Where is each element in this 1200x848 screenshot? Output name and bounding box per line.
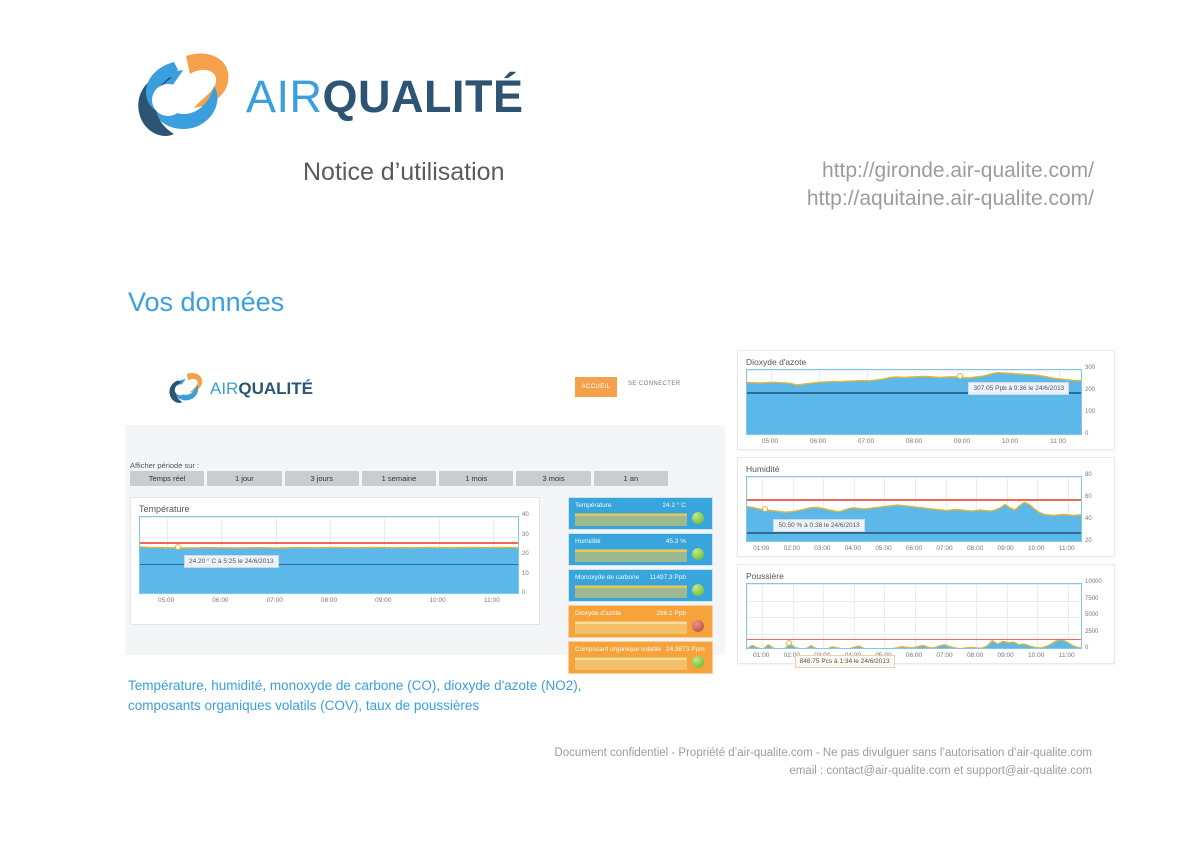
gauge-value: 24.2 ° C (662, 502, 706, 509)
x-tick-label: 06:00 (906, 545, 922, 552)
url-aquitaine[interactable]: http://aquitaine.air-qualite.com/ (807, 185, 1094, 213)
airqualite-logo-mark (128, 48, 240, 153)
chart-tooltip: 307.05 Ppb à 9:36 le 24/6/2013 (968, 382, 1069, 395)
chart-tooltip: 50.50 % à 0:38 le 24/6/2013 (773, 519, 864, 532)
period-tab-3[interactable]: 1 semaine (362, 471, 436, 486)
data-point-marker[interactable] (786, 640, 792, 646)
chart-plot-container[interactable]: 02500500075001000001:0002:0003:0004:0005… (738, 565, 1116, 665)
plot-area[interactable] (746, 476, 1082, 542)
app-logo-wordmark: AIRQUALITÉ (210, 380, 313, 397)
app-logo-qualite-text: QUALITÉ (238, 379, 313, 398)
x-tick-label: 06:00 (212, 597, 228, 604)
threshold-line (140, 542, 518, 544)
y-tick-label: 7500 (1085, 596, 1098, 602)
period-tab-0[interactable]: Temps réel (130, 471, 204, 486)
app-body: Afficher période sur : Temps réel1 jour3… (125, 425, 725, 655)
x-tick-label: 10:00 (429, 597, 445, 604)
gauge-status-red-icon (692, 620, 704, 632)
x-tick-label: 07:00 (936, 652, 952, 659)
x-tick-label: 01:00 (753, 545, 769, 552)
caption-line-1: Température, humidité, monoxyde de carbo… (128, 676, 728, 696)
x-tick-label: 11:00 (1050, 438, 1066, 445)
x-tick-label: 05:00 (875, 545, 891, 552)
app-screenshot: AIRQUALITÉ ACCUEIL SE CONNECTER Afficher… (125, 355, 725, 655)
baseline-marker (747, 532, 1081, 534)
chart-card-1: Dioxyde d'azote010020030005:0006:0007:00… (737, 350, 1115, 450)
nav-se-connecter-link[interactable]: SE CONNECTER (628, 381, 680, 387)
y-tick-label: 30 (522, 532, 529, 538)
chart-plot-container[interactable]: 010020030005:0006:0007:0008:0009:0010:00… (738, 351, 1116, 451)
y-tick-label: 10 (522, 571, 529, 577)
brand-qualite-text: QUALITÉ (323, 71, 524, 122)
y-tick-label: 2500 (1085, 629, 1098, 635)
brand-air-text: AIR (246, 71, 323, 122)
gauge-1[interactable]: Humidité45.3 % (568, 533, 713, 566)
x-tick-label: 07:00 (267, 597, 283, 604)
x-tick-label: 07:00 (858, 438, 874, 445)
period-tab-6[interactable]: 1 an (594, 471, 668, 486)
x-tick-label: 08:00 (967, 652, 983, 659)
x-tick-label: 05:00 (158, 597, 174, 604)
period-tab-2[interactable]: 3 jours (285, 471, 359, 486)
plot-area[interactable] (746, 369, 1082, 435)
document-subtitle: Notice d’utilisation (303, 158, 505, 187)
gauge-0[interactable]: Température24.2 ° C (568, 497, 713, 530)
x-tick-label: 10:00 (1028, 652, 1044, 659)
y-tick-label: 20 (522, 551, 529, 557)
gauge-sparkline (575, 621, 687, 634)
y-tick-label: 40 (1085, 516, 1092, 522)
url-gironde[interactable]: http://gironde.air-qualite.com/ (807, 157, 1094, 185)
x-tick-label: 07:00 (936, 545, 952, 552)
document-header: AIRQUALITÉ Notice d’utilisation http://g… (0, 0, 1200, 250)
gauge-value: 11497.3 Ppb (650, 574, 706, 581)
y-tick-label: 0 (522, 590, 525, 596)
x-tick-label: 11:00 (484, 597, 500, 604)
y-tick-label: 5000 (1085, 612, 1098, 618)
chart-plot-container[interactable]: 2040608001:0002:0003:0004:0005:0006:0007… (738, 458, 1116, 558)
nav-accueil-button[interactable]: ACCUEIL (575, 377, 617, 397)
x-tick-label: 08:00 (967, 545, 983, 552)
threshold-line (747, 639, 1081, 641)
chart-card-3: Poussière02500500075001000001:0002:0003:… (737, 564, 1115, 664)
app-logo-mark (165, 371, 207, 409)
x-tick-label: 06:00 (810, 438, 826, 445)
x-tick-label: 10:00 (1028, 545, 1044, 552)
x-tick-label: 02:00 (784, 545, 800, 552)
brand-wordmark: AIRQUALITÉ (246, 74, 524, 119)
gauge-value: 45.3 % (666, 538, 706, 545)
temperature-chart-title: Température (139, 504, 190, 514)
app-logo[interactable]: AIRQUALITÉ (165, 371, 310, 409)
gauge-4[interactable]: Composant organique volatile24.3873 Ppm (568, 641, 713, 674)
airqualite-logo: AIRQUALITÉ (128, 48, 528, 153)
period-tab-5[interactable]: 3 mois (516, 471, 590, 486)
section-title: Vos données (128, 287, 284, 318)
gauge-name: Monoxyde de carbone (575, 574, 639, 581)
period-tab-4[interactable]: 1 mois (439, 471, 513, 486)
gauge-name: Dioxyde d'azote (575, 610, 621, 617)
y-tick-label: 200 (1085, 387, 1095, 393)
y-tick-label: 10000 (1085, 579, 1102, 585)
y-tick-label: 0 (1085, 645, 1088, 651)
gauge-name: Humidité (575, 538, 601, 545)
gauge-sparkline (575, 657, 687, 670)
x-tick-label: 08:00 (906, 438, 922, 445)
footer-confidential-text: Document confidentiel - Propriété d’air-… (554, 744, 1092, 762)
y-tick-label: 60 (1085, 494, 1092, 500)
gauge-3[interactable]: Dioxyde d'azote286.1 Ppb (568, 605, 713, 638)
x-tick-label: 09:00 (954, 438, 970, 445)
site-urls: http://gironde.air-qualite.com/ http://a… (807, 157, 1094, 212)
x-tick-label: 08:00 (321, 597, 337, 604)
x-tick-label: 04:00 (845, 545, 861, 552)
gauge-2[interactable]: Monoxyde de carbone11497.3 Ppb (568, 569, 713, 602)
document-footer: Document confidentiel - Propriété d’air-… (554, 744, 1092, 781)
caption-line-2: composants organiques volatils (COV), ta… (128, 696, 728, 716)
gauge-name: Composant organique volatile (575, 646, 661, 653)
period-selector-tabs[interactable]: Temps réel1 jour3 jours1 semaine1 mois3 … (130, 471, 668, 486)
temperature-chart-card: Température 01020304005:0006:0007:0008:0… (130, 497, 540, 625)
y-tick-label: 100 (1085, 409, 1095, 415)
y-tick-label: 20 (1085, 538, 1092, 544)
x-tick-label: 09:00 (375, 597, 391, 604)
x-tick-label: 09:00 (997, 545, 1013, 552)
gauge-status-green-icon (692, 512, 704, 524)
gauge-sparkline (575, 513, 687, 526)
period-tab-1[interactable]: 1 jour (207, 471, 281, 486)
app-topbar: AIRQUALITÉ ACCUEIL SE CONNECTER (125, 355, 725, 425)
chart-card-2: Humidité2040608001:0002:0003:0004:0005:0… (737, 457, 1115, 557)
x-tick-label: 11:00 (1059, 652, 1075, 659)
gauge-name: Température (575, 502, 612, 509)
data-point-marker[interactable] (175, 544, 181, 550)
x-tick-label: 10:00 (1002, 438, 1018, 445)
gauge-status-green-icon (692, 584, 704, 596)
x-tick-label: 05:00 (762, 438, 778, 445)
gauge-sparkline (575, 549, 687, 562)
plot-area[interactable] (746, 583, 1082, 649)
x-tick-label: 03:00 (814, 545, 830, 552)
y-tick-label: 40 (522, 512, 529, 518)
right-chart-column: Dioxyde d'azote010020030005:0006:0007:00… (737, 350, 1115, 671)
gauge-status-green-icon (692, 548, 704, 560)
screenshot-caption: Température, humidité, monoxyde de carbo… (128, 676, 728, 717)
footer-email-text: email : contact@air-qualite.com et suppo… (554, 762, 1092, 780)
period-selector-label: Afficher période sur : (130, 461, 199, 470)
x-tick-label: 06:00 (906, 652, 922, 659)
x-tick-label: 11:00 (1059, 545, 1075, 552)
y-tick-label: 80 (1085, 472, 1092, 478)
y-tick-label: 0 (1085, 431, 1088, 437)
chart-tooltip: 846.75 Pcs à 1:34 le 24/6/2013 (795, 655, 895, 668)
series-area (747, 370, 1082, 435)
y-tick-label: 300 (1085, 365, 1095, 371)
gauge-status-green-icon (692, 656, 704, 668)
app-logo-air-text: AIR (210, 379, 238, 398)
chart-tooltip: 24.20 ° C à 5:25 le 24/6/2013 (184, 555, 279, 568)
threshold-line (747, 499, 1081, 501)
x-tick-label: 09:00 (997, 652, 1013, 659)
sensor-gauge-list: Température24.2 ° CHumidité45.3 %Monoxyd… (568, 497, 713, 677)
gauge-value: 286.1 Ppb (656, 610, 706, 617)
x-tick-label: 01:00 (753, 652, 769, 659)
gauge-sparkline (575, 585, 687, 598)
gauge-value: 24.3873 Ppm (666, 646, 705, 653)
